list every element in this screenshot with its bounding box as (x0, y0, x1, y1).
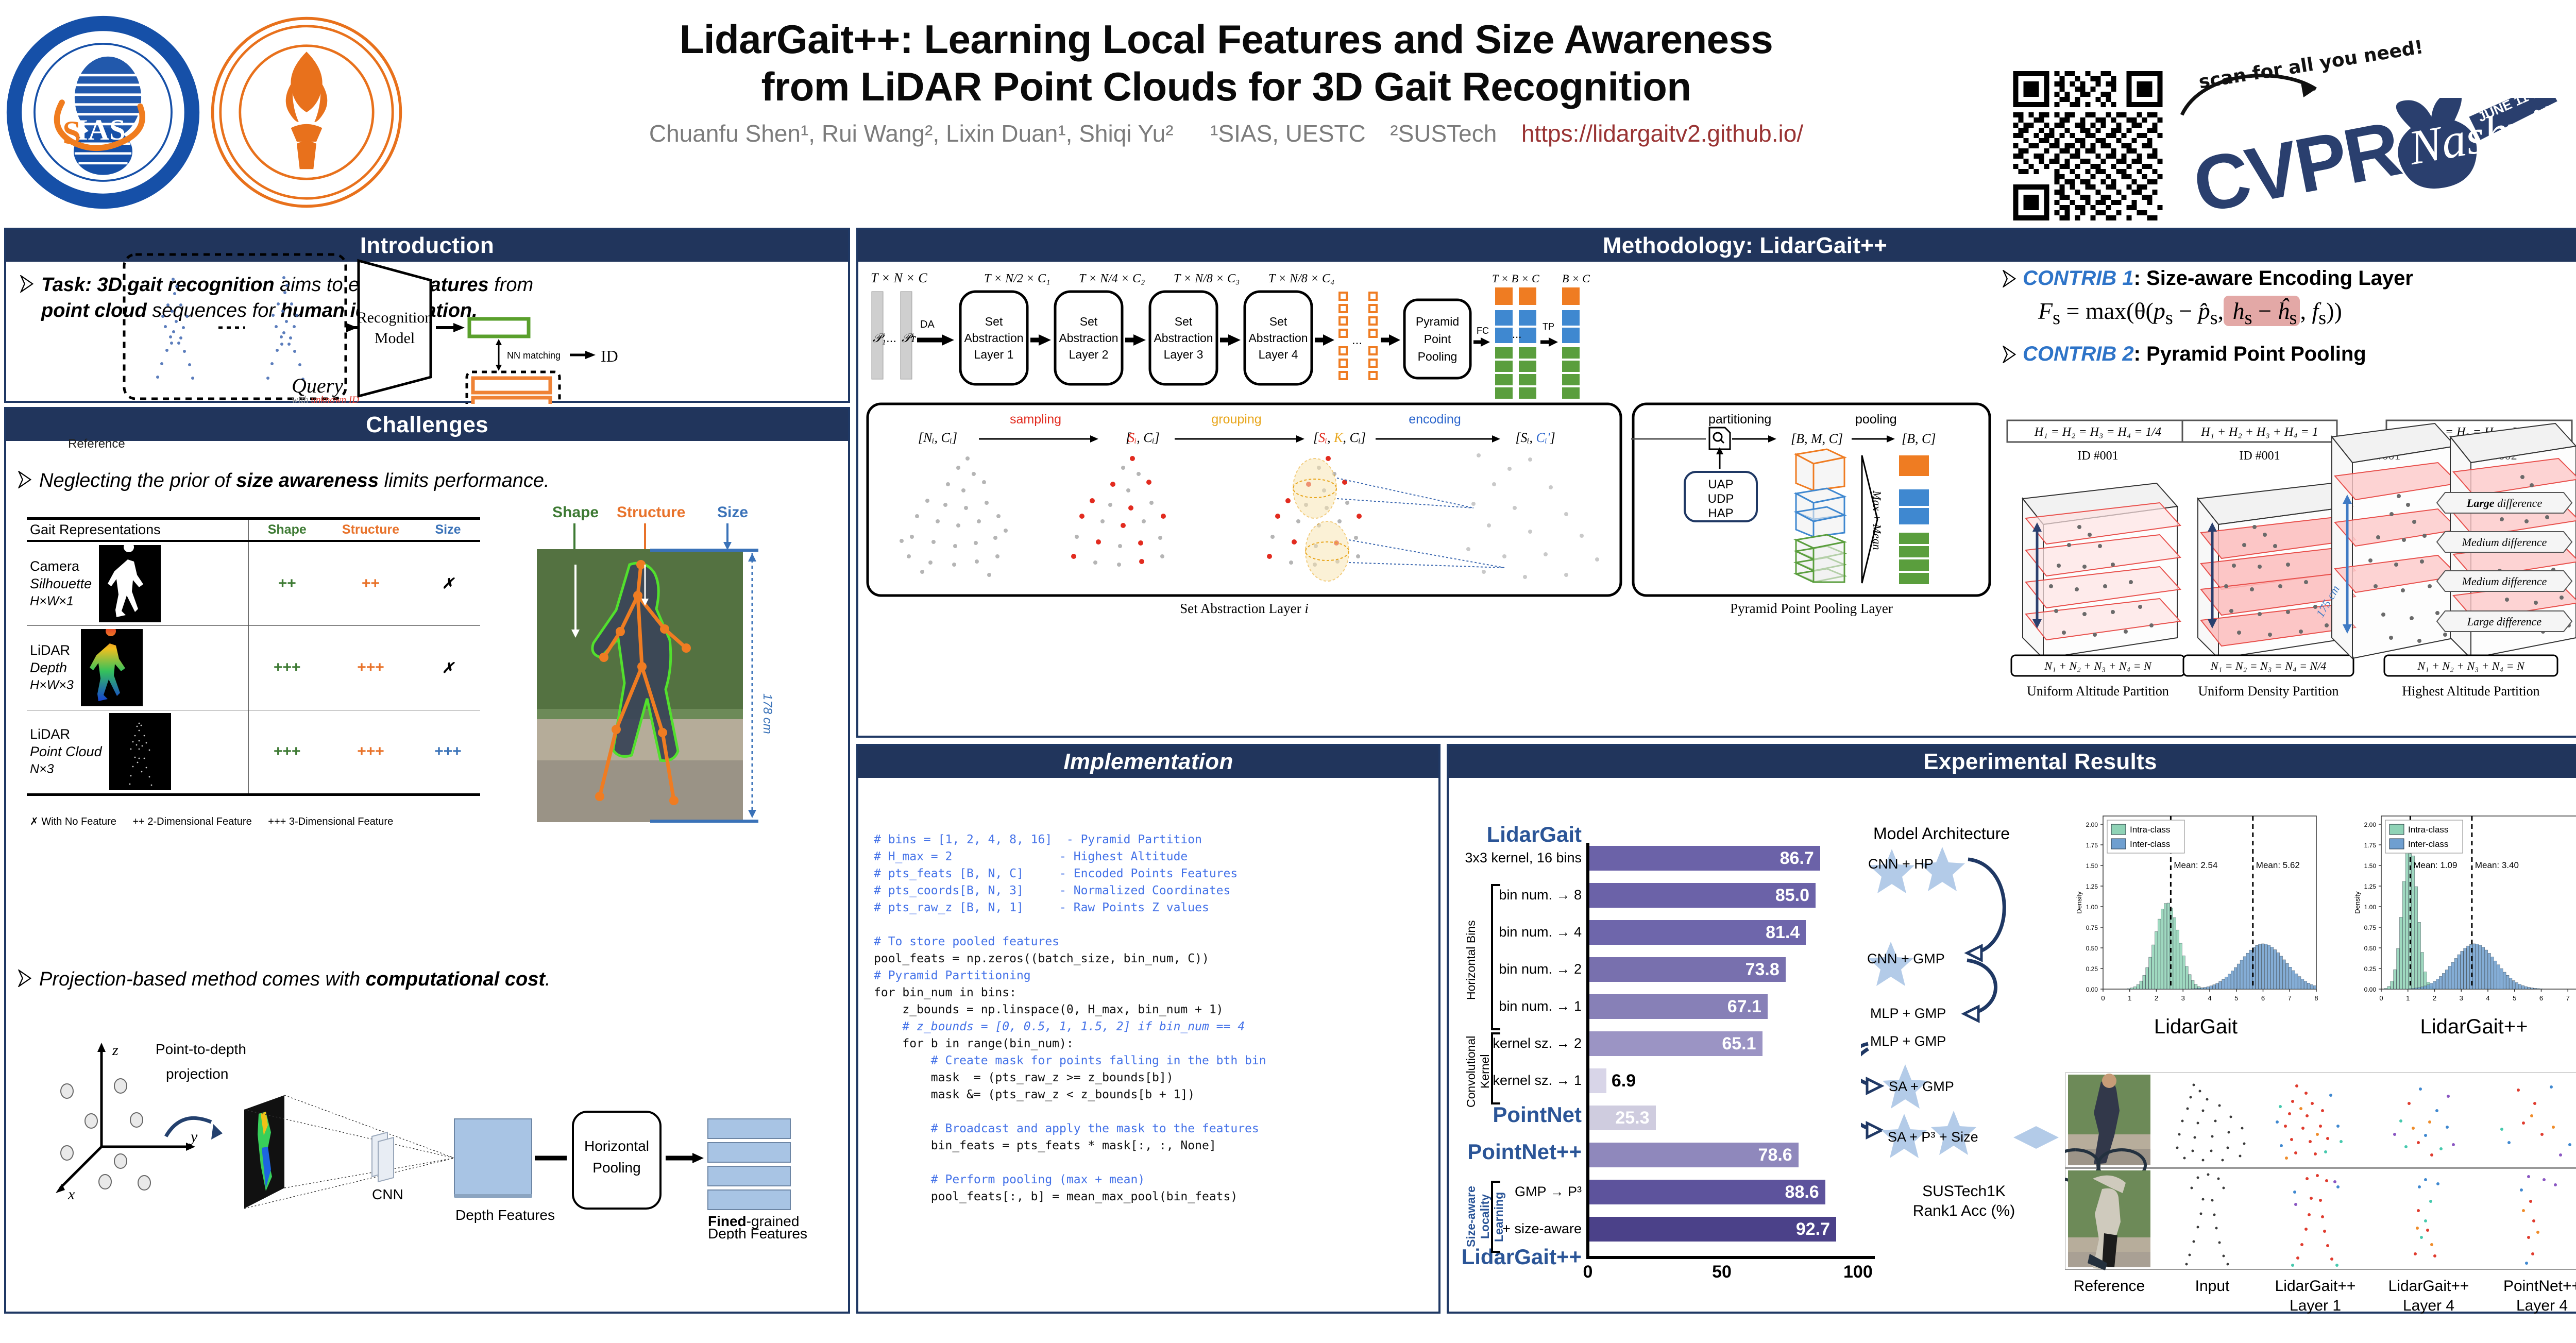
bar: 81.4 (1588, 920, 1806, 945)
hist-x-tick: 2 (2433, 994, 2436, 1002)
x-axis-tick: 0 (1575, 1262, 1600, 1282)
sa4-l2: Abstraction (1248, 331, 1308, 345)
ppp-l3: Pooling (1418, 350, 1458, 363)
hp-label-l2: Pooling (592, 1160, 640, 1176)
hist-y-tick: 0.50 (2086, 945, 2098, 952)
hist-x-tick: 4 (2486, 994, 2489, 1002)
table-row: LiDAR Point Cloud N×3 (27, 710, 480, 794)
id-label: ID (601, 347, 618, 365)
feature-visualization-grid: Reference Input LidarGait++ Layer 1 Lida… (2065, 1073, 2576, 1340)
p2d-label-l2: projection (166, 1066, 228, 1082)
photo-label-size: Size (717, 504, 748, 521)
sa-t2: Sᵢ, Cᵢ] (1128, 430, 1160, 445)
feat-dots: ... (1512, 328, 1521, 341)
legend-item-3d: +++ 3-Dimensional Feature (268, 816, 393, 827)
silhouette-thumbnail (99, 545, 161, 622)
author-list: Chuanfu Shen¹, Rui Wang², Lixin Duan¹, S… (649, 120, 1174, 147)
arch-item-sa-p3-size: SA + P³ + Size (1882, 1111, 2059, 1158)
affiliation-1: ¹SIAS, UESTC (1210, 120, 1366, 147)
bar: 6.9 (1588, 1068, 1606, 1093)
bar: 25.3 (1588, 1106, 1656, 1130)
tbc-shape: T × B × C (1492, 272, 1539, 285)
part3-note-2: Medium difference (2462, 536, 2547, 549)
bar: 85.0 (1588, 883, 1816, 908)
hist-x-tick: 2 (2155, 994, 2158, 1002)
arch-label-3: MLP + GMP (1870, 1033, 1946, 1049)
axis-x-label: x (67, 1186, 75, 1203)
token-column-1 (1340, 293, 1347, 379)
ppp-caption: Pyramid Point Pooling Layer (1730, 601, 1893, 616)
vis-caption-3b: Layer 4 (2403, 1297, 2454, 1314)
op-grouping: grouping (1211, 412, 1261, 427)
arch-label-0: CNN + HP (1868, 856, 1934, 872)
maxmean-label: Max + Mean (1871, 490, 1884, 550)
hist-legend-item: Inter-class (2130, 839, 2170, 849)
hist-title: LidarGait (2154, 1015, 2238, 1038)
hist-x-tick: 7 (2566, 994, 2570, 1002)
pointcloud-thumbnail (109, 713, 171, 790)
sa2-l3: Layer 2 (1069, 348, 1109, 361)
svg-text:S: S (62, 114, 81, 151)
bar-category-label: 3x3 kernel, 16 bins (1459, 850, 1582, 866)
bar: 67.1 (1588, 994, 1768, 1019)
hist-y-tick: 0.75 (2364, 924, 2377, 931)
pipeline-input-shape: T × N × C (871, 270, 927, 285)
authors-affiliations: Chuanfu Shen¹, Rui Wang², Lixin Duan¹, S… (459, 120, 1994, 147)
hist-y-tick: 1.50 (2364, 862, 2377, 870)
part2-caption: Uniform Density Partition (2198, 684, 2339, 699)
sa1-shape: T × N/2 × C₁ (984, 272, 1050, 285)
da-label: DA (920, 319, 935, 330)
vis-caption-1: Input (2195, 1278, 2230, 1295)
hist-x-tick: 7 (2288, 994, 2292, 1002)
hist-x-tick: 6 (2539, 994, 2543, 1002)
introduction-pipeline-figure: Recognition Model NN matching ID (3, 249, 845, 404)
vis-caption-0: Reference (2074, 1278, 2145, 1295)
contrib-1-line: CONTRIB 1: Size-aware Encoding Layer (2002, 267, 2576, 290)
sustech-logo (209, 14, 404, 210)
partitioning-label: partitioning (1708, 412, 1771, 427)
part2-id: ID #001 (2239, 449, 2280, 463)
table-col-size: Size (416, 519, 480, 541)
sa3-l1: Set (1175, 315, 1193, 328)
bar: 65.1 (1588, 1031, 1762, 1056)
results-heading: Experimental Results (1449, 746, 2576, 778)
hist-y-tick: 1.75 (2364, 842, 2377, 849)
hist-x-tick: 1 (2128, 994, 2131, 1002)
sa4-shape: T × N/8 × C₄ (1268, 272, 1334, 285)
hist-y-tick: 0.25 (2086, 965, 2098, 973)
hist-x-tick: 0 (2379, 994, 2383, 1002)
arch-item-sa-gmp: SA + GMP (1883, 1064, 1954, 1109)
part3-note-3: Medium difference (2462, 575, 2547, 588)
sa2-l1: Set (1080, 315, 1098, 328)
hist-title: LidarGait++ (2420, 1015, 2528, 1038)
challenges-heading: Challenges (6, 409, 848, 441)
svg-text:CVPR: CVPR (2187, 105, 2406, 216)
legend-item-2d: ++ 2-Dimensional Feature (132, 816, 251, 827)
annotated-walker-photo: Shape Structure Size (521, 503, 820, 843)
ppp-l1: Pyramid (1416, 315, 1459, 328)
challenges-bullet-1: Neglecting the prior of size awareness l… (39, 468, 550, 494)
hist-x-tick: 3 (2460, 994, 2463, 1002)
hist-y-tick: 0.75 (2086, 924, 2098, 931)
stray-reference-label: Reference (68, 437, 125, 451)
photo-label-structure: Structure (617, 504, 685, 521)
x-axis-tick: 50 (1709, 1262, 1734, 1282)
arch-label-4: SA + GMP (1889, 1079, 1954, 1094)
part2-bottom: N₁ = N₂ = N₃ = N₄ = N/4 (2210, 659, 2326, 672)
part3-note-4: Large difference (2467, 615, 2542, 628)
bar-value: 86.7 (1780, 848, 1820, 869)
tp-label: TP (1543, 321, 1554, 332)
recognition-model-label-l1: Recognition (357, 309, 433, 326)
recognition-model-label-l2: Model (375, 330, 415, 347)
model-architecture-column: Model Architecture CNN + HP CNN + GMP (1861, 824, 2077, 1339)
experimental-results-panel: Experimental Results LidarGait3x3 kernel… (1447, 744, 2576, 1314)
hist-mean-annotation: Mean: 3.40 (2475, 860, 2519, 870)
sa-t4: [Sᵢ, Cᵢ'] (1515, 430, 1555, 445)
reference-photo-row2 (2068, 1170, 2150, 1270)
arch-label-2: MLP + GMP (1870, 1006, 1946, 1021)
cvpr-nashville-logo: CVPR Nashville JUNE 11-15, 2025 (2179, 98, 2576, 216)
reference-photo-row1 (2065, 1074, 2150, 1181)
hp-label-l1: Horizontal (584, 1138, 649, 1154)
photo-label-shape: Shape (552, 504, 599, 521)
axis-z-label: z (112, 1042, 118, 1059)
hist-y-tick: 0.00 (2364, 986, 2377, 993)
group-label-horizontal-bins: Horizontal Bins (1464, 886, 1478, 1034)
bar-value: 88.6 (1785, 1182, 1825, 1202)
p-last: 𝒫ᴛ (902, 332, 916, 345)
hist-y-tick: 2.00 (2364, 821, 2377, 828)
token-dots: ... (1352, 333, 1362, 347)
bar: 92.7 (1588, 1217, 1836, 1242)
sa2-l2: Abstraction (1059, 331, 1118, 345)
arch-footer-l2: Rank1 Acc (%) (1913, 1202, 2015, 1219)
option-uap: UAP (1708, 478, 1733, 491)
table-row: LiDAR Depth H×W×3 (27, 625, 480, 710)
p-dots: ... (886, 331, 896, 345)
op-sampling: sampling (1010, 412, 1061, 427)
methodology-pipeline-diagram: T × N × C 𝒫₁ ... 𝒫ᴛ DA Set Abstraction L… (866, 270, 1793, 399)
chevron-bullet-icon (2002, 346, 2016, 363)
hist-mean-annotation: Mean: 2.54 (2174, 860, 2217, 870)
set-abstraction-layer-figure: sampling grouping encoding [Nᵢ, Cᵢ] Sᵢ, … (866, 402, 1623, 623)
hist-y-tick: 1.25 (2086, 883, 2098, 890)
hist-x-tick: 1 (2406, 994, 2410, 1002)
poster-title-line1: LidarGait++: Learning Local Features and… (459, 15, 1994, 63)
option-udp: UDP (1708, 492, 1734, 506)
hist-mean-annotation: Mean: 5.62 (2256, 860, 2300, 870)
formula-highlight: hs − ĥs (2224, 296, 2300, 326)
sa2-shape: T × N/4 × C₂ (1079, 272, 1145, 285)
chevron-bullet-icon (18, 970, 32, 987)
chevron-bullet-icon (2002, 270, 2016, 287)
hist-y-tick: 1.50 (2086, 862, 2098, 870)
bar: 86.7 (1588, 846, 1820, 871)
bar-model-name: PointNet++ (1459, 1140, 1582, 1164)
table-col-representations: Gait Representations (27, 519, 248, 541)
bar-value: 6.9 (1612, 1071, 1636, 1091)
hist-legend-item: Intra-class (2408, 825, 2448, 835)
bar-value: 85.0 (1775, 886, 1816, 906)
sa-caption: Set Abstraction Layer i (1180, 601, 1309, 616)
hist-x-tick: 5 (2234, 994, 2238, 1002)
axis-y-label: y (189, 1128, 198, 1145)
size-aware-formula: Fs = max(θ(ps − p̂s, hs − ĥs, fs)) (2038, 297, 2576, 329)
affiliation-2: ²SUSTech (1390, 120, 1497, 147)
part1-caption: Uniform Altitude Partition (2027, 684, 2169, 699)
arch-item-cnn-hp: CNN + HP (1868, 847, 1965, 893)
projection-pipeline-figure: z y x Point-to-depth projection (11, 1018, 841, 1239)
ppp-l2: Point (1424, 332, 1451, 346)
depth-map-thumbnail (81, 629, 143, 706)
sa1-l2: Abstraction (964, 331, 1023, 345)
chevron-bullet-icon (18, 471, 32, 488)
p2d-label-l1: Point-to-depth (156, 1041, 246, 1057)
sa3-l3: Layer 3 (1164, 348, 1204, 361)
hist-y-tick: 1.75 (2086, 842, 2098, 849)
methodology-panel: Methodology: LidarGait++ T × N × C 𝒫₁ ..… (856, 228, 2576, 738)
implementation-heading: Implementation (858, 746, 1438, 778)
token-column-2 (1369, 293, 1377, 379)
hist-x-tick: 0 (2101, 994, 2105, 1002)
bc-shape: B × C (1562, 272, 1590, 285)
pyramid-point-pooling-figure: partitioning pooling UAP UDP HAP [B, M, … (1631, 402, 1992, 623)
part3-bottom: N₁ + N₂ + N₃ + N₄ = N (2417, 659, 2525, 672)
ppp-shape-in: [B, M, C] (1791, 431, 1843, 446)
query-label: Query (292, 374, 343, 397)
partition-comparison-figure: H₁ = H₂ = H₃ = H₄ = 1/4 ID #001 (2002, 416, 2576, 705)
arch-footer-l1: SUSTech1K (1922, 1183, 2006, 1200)
hist-y-tick: 0.25 (2364, 965, 2377, 973)
hist-x-tick: 6 (2261, 994, 2265, 1002)
methodology-heading: Methodology: LidarGait++ (858, 230, 2576, 262)
group-label-conv-kernel: Convolutional Kernel (1464, 1034, 1492, 1109)
bar: 78.6 (1588, 1143, 1799, 1167)
part1-id: ID #001 (2077, 449, 2118, 463)
cnn-label: CNN (372, 1186, 403, 1202)
part1-top: H₁ = H₂ = H₃ = H₄ = 1/4 (2034, 426, 2161, 439)
arch-item-cnn-gmp: CNN + GMP (1867, 942, 1945, 986)
fc-label: FC (1477, 326, 1489, 336)
contrib-2-line: CONTRIB 2: Pyramid Point Pooling (2002, 343, 2576, 366)
vis-caption-3a: LidarGait++ (2388, 1278, 2469, 1295)
poster-title-line2: from LiDAR Point Clouds for 3D Gait Reco… (459, 63, 1994, 110)
hist-y-tick: 1.00 (2364, 904, 2377, 911)
hist-y-tick: 0.00 (2086, 986, 2098, 993)
bar-value: 92.7 (1796, 1219, 1836, 1239)
hist-x-tick: 8 (2314, 994, 2318, 1002)
part1-bottom: N₁ + N₂ + N₃ + N₄ = N (2044, 659, 2152, 672)
implementation-panel: Implementation # bins = [1, 2, 4, 8, 16]… (856, 744, 1440, 1314)
hist-y-label: Density (2075, 891, 2083, 914)
option-hap: HAP (1708, 506, 1733, 520)
sias-logo: IAS S (5, 14, 201, 210)
legend-item-x: ✗ With No Feature (30, 816, 116, 827)
distance-distribution-histograms: Mean: 2.54Mean: 5.620123456780.000.250.5… (2067, 809, 2576, 1066)
vis-caption-2b: Layer 1 (2290, 1297, 2341, 1314)
vis-caption-2a: LidarGait++ (2275, 1278, 2356, 1295)
bar-value: 25.3 (1615, 1108, 1655, 1128)
hist-y-tick: 0.50 (2364, 945, 2377, 952)
hist-y-tick: 2.00 (2086, 821, 2098, 828)
pooling-label: pooling (1855, 412, 1897, 427)
table-col-shape: Shape (248, 519, 326, 541)
hist-legend-item: Intra-class (2130, 825, 2170, 835)
project-url-link[interactable]: https://lidargaitv2.github.io/ (1521, 120, 1803, 147)
model-architecture-title: Model Architecture (1873, 824, 2010, 843)
sa-t1: [Nᵢ, Cᵢ] (918, 430, 957, 445)
hist-y-tick: 1.25 (2364, 883, 2377, 890)
fine-features-label-l2: Depth Features (708, 1226, 807, 1239)
sa1-l1: Set (985, 315, 1003, 328)
sa3-shape: T × N/8 × C₃ (1174, 272, 1240, 285)
hist-x-tick: 3 (2181, 994, 2185, 1002)
title-block: LidarGait++: Learning Local Features and… (459, 15, 1994, 147)
hist-legend-item: Inter-class (2408, 839, 2448, 849)
p-first: 𝒫₁ (873, 332, 886, 345)
magnifier-doc-icon (1709, 428, 1730, 449)
sa-t3: [Sᵢ, K, Cᵢ] (1313, 430, 1366, 445)
sa4-l1: Set (1269, 315, 1287, 328)
hist-mean-annotation: Mean: 1.09 (2413, 860, 2457, 870)
hist-x-tick: 5 (2513, 994, 2516, 1002)
table-row: Camera Silhouette H×W×1 (27, 541, 480, 625)
vis-caption-4a: PointNet++ (2503, 1278, 2576, 1295)
ppp-shape-out: [B, C] (1902, 431, 1936, 446)
poster-root: IAS S LidarGait++: Learning Local Featur… (0, 0, 2576, 1319)
sa1-l3: Layer 1 (974, 348, 1014, 361)
implementation-code-block: # bins = [1, 2, 4, 8, 16] - Pyramid Part… (874, 831, 1420, 1205)
bar-value: 73.8 (1745, 960, 1786, 980)
table-col-structure: Structure (326, 519, 416, 541)
hist-y-tick: 1.00 (2086, 904, 2098, 911)
poster-header: IAS S LidarGait++: Learning Local Featur… (0, 0, 2576, 222)
contributions-block: CONTRIB 1: Size-aware Encoding Layer Fs … (2002, 267, 2576, 406)
query-sub-label: with unknown ID (292, 395, 359, 404)
op-encoding: encoding (1409, 412, 1461, 427)
vis-caption-4b: Layer 4 (2516, 1297, 2568, 1314)
bar-value: 67.1 (1727, 997, 1768, 1017)
part3-note-1: Large difference (2466, 497, 2543, 509)
hist-x-tick: 4 (2208, 994, 2211, 1002)
challenges-bullet-2: Projection-based method comes with compu… (39, 966, 551, 992)
photo-height-label: 178 cm (760, 693, 774, 734)
bar: 73.8 (1588, 957, 1786, 982)
hist-y-label: Density (2353, 891, 2361, 914)
sa4-l3: Layer 4 (1259, 348, 1298, 361)
rank1-accuracy-bar-chart: LidarGait3x3 kernel, 16 bins86.7bin num.… (1459, 824, 1912, 1339)
challenges-panel: Challenges (4, 407, 850, 1314)
part3-caption: Highest Altitude Partition (2402, 684, 2539, 699)
sa3-l2: Abstraction (1154, 331, 1213, 345)
depth-features-label: Depth Features (455, 1207, 555, 1223)
svg-text:IAS: IAS (77, 114, 126, 146)
gait-representations-table: Gait Representations Shape Structure Siz… (27, 517, 480, 796)
part2-top: H₁ + H₂ + H₃ + H₄ = 1 (2200, 426, 2318, 439)
nn-matching-label: NN matching (507, 350, 561, 361)
bar-value: 81.4 (1766, 923, 1806, 943)
bar: 88.6 (1588, 1180, 1825, 1204)
table-legend: ✗ With No Feature ++ 2-Dimensional Featu… (30, 815, 406, 828)
bar-model-name: LidarGait (1459, 822, 1582, 847)
bar-value: 78.6 (1758, 1145, 1799, 1165)
arch-label-5: SA + P³ + Size (1888, 1129, 1978, 1145)
bar-value: 65.1 (1722, 1034, 1762, 1054)
arch-label-1: CNN + GMP (1867, 951, 1945, 966)
qr-code[interactable] (2012, 71, 2164, 220)
